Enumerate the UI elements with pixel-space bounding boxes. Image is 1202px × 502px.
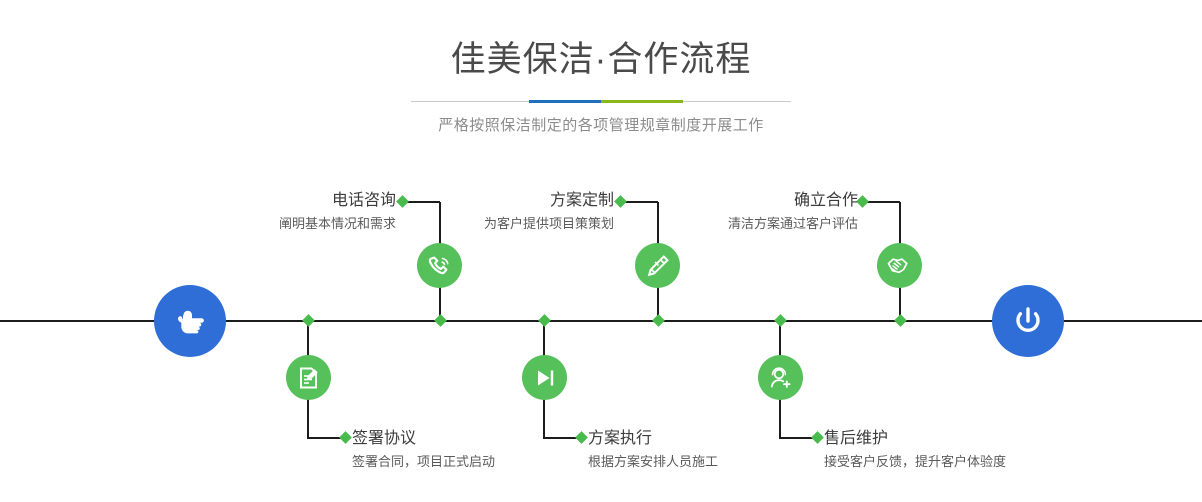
step-icon-4 — [635, 243, 680, 288]
step-title-5: 售后维护 — [824, 428, 1006, 450]
timeline-end-node — [992, 285, 1064, 357]
timeline-marker-3 — [538, 314, 551, 327]
step-desc-1: 签署合同，项目正式启动 — [352, 453, 495, 471]
label-marker-4 — [614, 195, 627, 208]
power-icon — [1008, 301, 1048, 341]
step-label-1: 签署协议 签署合同，项目正式启动 — [352, 428, 495, 471]
label-marker-2 — [396, 195, 409, 208]
step-title-2: 电话咨询 — [248, 190, 396, 212]
pointing-hand-icon — [171, 302, 209, 340]
phone-call-icon — [427, 253, 453, 279]
label-marker-6 — [856, 195, 869, 208]
timeline-marker-1 — [302, 314, 315, 327]
timeline-start-node — [154, 285, 226, 357]
customer-support-icon — [768, 365, 794, 391]
step-desc-3: 根据方案安排人员施工 — [588, 453, 718, 471]
step-label-5: 售后维护 接受客户反馈，提升客户体验度 — [824, 428, 1006, 471]
timeline-marker-5 — [774, 314, 787, 327]
step-icon-3 — [522, 355, 567, 400]
label-marker-5 — [811, 431, 824, 444]
pencil-plan-icon — [645, 253, 671, 279]
step-title-4: 方案定制 — [462, 190, 614, 212]
handshake-icon — [886, 252, 913, 279]
play-next-icon — [532, 365, 558, 391]
document-edit-icon — [296, 365, 322, 391]
step-desc-5: 接受客户反馈，提升客户体验度 — [824, 453, 1006, 471]
label-marker-1 — [339, 431, 352, 444]
label-marker-3 — [575, 431, 588, 444]
step-label-3: 方案执行 根据方案安排人员施工 — [588, 428, 718, 471]
step-title-6: 确立合作 — [706, 190, 858, 212]
step-icon-6 — [877, 243, 922, 288]
step-icon-1 — [286, 355, 331, 400]
step-icon-2 — [417, 243, 462, 288]
step-label-6: 确立合作 清洁方案通过客户评估 — [706, 190, 858, 233]
step-title-3: 方案执行 — [588, 428, 718, 450]
step-icon-5 — [758, 355, 803, 400]
step-label-2: 电话咨询 阐明基本情况和需求 — [248, 190, 396, 233]
step-desc-4: 为客户提供项目策策划 — [462, 215, 614, 233]
step-desc-6: 清洁方案通过客户评估 — [706, 215, 858, 233]
process-timeline: 签署协议 签署合同，项目正式启动 电话咨询 阐明基本情况和需求 — [0, 0, 1202, 502]
flow-diagram-page: 佳美保洁·合作流程 严格按照保洁制定的各项管理规章制度开展工作 — [0, 0, 1202, 502]
timeline-marker-2 — [434, 314, 447, 327]
timeline-marker-4 — [652, 314, 665, 327]
step-desc-2: 阐明基本情况和需求 — [248, 215, 396, 233]
step-label-4: 方案定制 为客户提供项目策策划 — [462, 190, 614, 233]
step-title-1: 签署协议 — [352, 428, 495, 450]
timeline-marker-6 — [894, 314, 907, 327]
